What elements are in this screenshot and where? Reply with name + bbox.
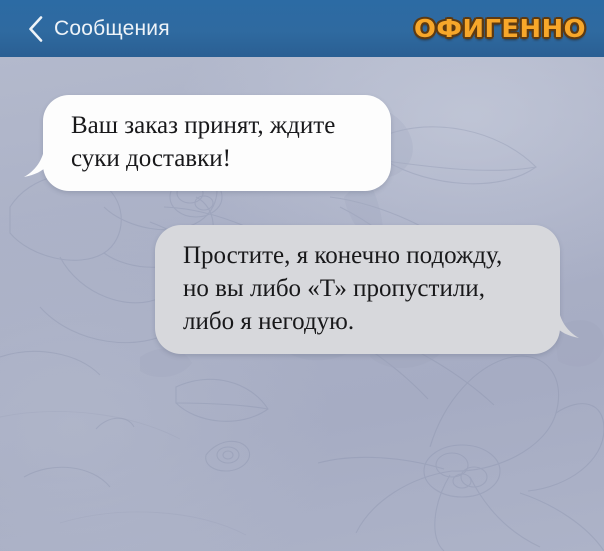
message-bubble-incoming[interactable]: Ваш заказ принят, ждите суки доставки! xyxy=(43,95,391,191)
message-text-outgoing: Простите, я конечно подожду, но вы либо … xyxy=(183,239,538,338)
app-header: Сообщения ОФИГЕННО xyxy=(0,0,604,57)
back-button[interactable]: Сообщения xyxy=(28,12,170,46)
watermark-logo: ОФИГЕННО xyxy=(414,14,586,43)
messaging-app-screen: Ваш заказ принят, ждите суки доставки! П… xyxy=(0,0,604,551)
message-list: Ваш заказ принят, ждите суки доставки! П… xyxy=(0,57,604,551)
bubble-tail-left xyxy=(24,143,56,177)
chevron-left-icon[interactable] xyxy=(28,16,43,42)
message-text-incoming: Ваш заказ принят, ждите суки доставки! xyxy=(71,109,369,175)
bubble-tail-right xyxy=(547,304,579,338)
message-bubble-outgoing[interactable]: Простите, я конечно подожду, но вы либо … xyxy=(155,225,560,354)
back-button-label: Сообщения xyxy=(54,16,170,42)
